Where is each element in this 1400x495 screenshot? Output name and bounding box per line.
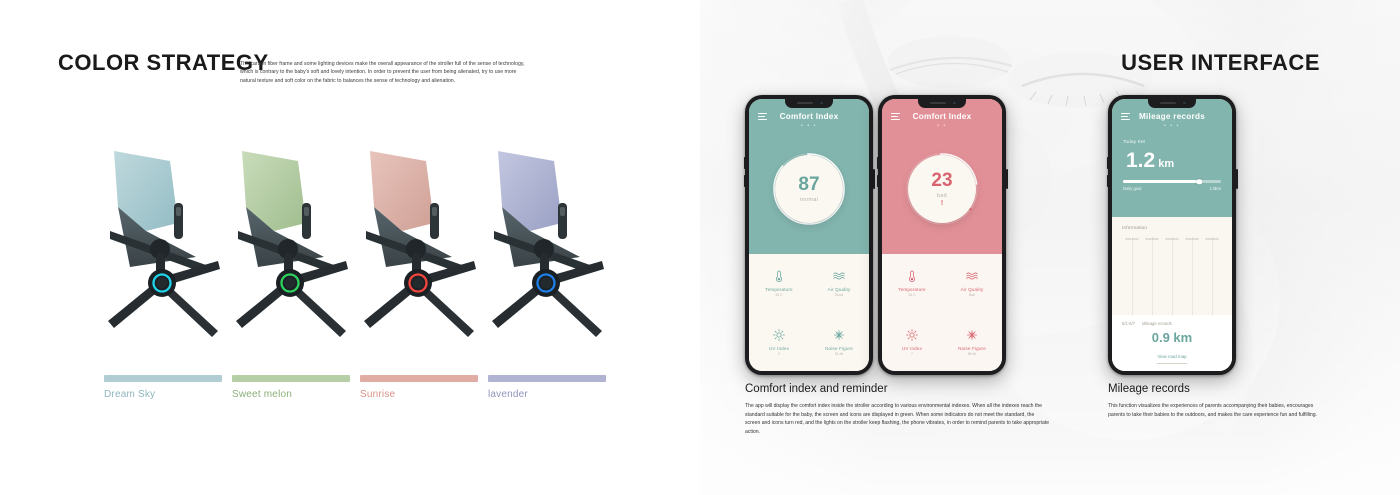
sensor-uv-index[interactable]: UV Index 7: [882, 313, 942, 372]
phone-volume-button[interactable]: [744, 175, 746, 187]
app-title: Comfort Index: [882, 112, 1002, 121]
stroller-illustration: [484, 135, 609, 360]
camera-icon: [820, 102, 823, 105]
menu-icon[interactable]: [891, 113, 900, 120]
phone-power-button[interactable]: [873, 169, 875, 189]
sensor-label: Air Quality: [828, 287, 851, 292]
product-card: Sunrise: [356, 135, 481, 360]
today-km-value: 1.2km: [1123, 150, 1221, 171]
sensor-label: Temperature: [898, 287, 925, 292]
gauge-status: normal: [800, 197, 818, 203]
phone-notch: [1148, 99, 1196, 108]
speaker-icon: [930, 102, 946, 104]
phone-volume-button[interactable]: [877, 175, 879, 187]
stroller-image: [356, 135, 481, 360]
swatch-gallery: Dream Sky: [0, 0, 700, 495]
chart-title: Information: [1122, 225, 1222, 230]
noise-icon: [965, 328, 979, 342]
stroller-illustration: [228, 135, 353, 360]
phone-mockup-comfort-bad: Comfort Index • • 23 bad !: [878, 95, 1006, 375]
app-title: Comfort Index: [749, 112, 869, 121]
sensor-air-quality[interactable]: Air Quality Bad: [942, 254, 1002, 313]
comfort-gauge-wrap: 87 normal: [749, 129, 869, 257]
thermometer-icon: [772, 269, 786, 283]
caption-comfort-index: Comfort index and reminder The app will …: [745, 383, 1050, 436]
sun-icon: [905, 328, 919, 342]
app-hero-mileage: Mileage records • • • Today KM 1.2km: [1112, 99, 1232, 217]
chart-container: Information 5/01-5/02 5/02-5/03 5/03-5/0…: [1112, 217, 1232, 315]
phone-power-button[interactable]: [1006, 169, 1008, 189]
sensor-value: 26 C: [775, 293, 782, 297]
phone-notch: [785, 99, 833, 108]
progress-knob[interactable]: [1197, 179, 1202, 184]
product-card: lavender: [484, 135, 609, 360]
daily-goal-value: 1.5km: [1210, 186, 1221, 191]
daily-goal-meta: Daily goal 1.5km: [1123, 186, 1221, 191]
color-swatch-label: Sweet melon: [232, 389, 292, 400]
speaker-icon: [797, 102, 813, 104]
gauge-value: 23: [931, 171, 952, 190]
app-title: Mileage records: [1112, 112, 1232, 121]
camera-icon: [1183, 102, 1186, 105]
stroller-illustration: [100, 135, 225, 360]
sensor-value: Bad: [969, 293, 975, 297]
page-title-user-interface: USER INTERFACE: [1121, 50, 1320, 76]
daily-goal-label: Daily goal: [1123, 186, 1141, 191]
comfort-gauge-wrap: 23 bad !: [882, 129, 1002, 257]
sensor-grid: Temperature 34 C Air Quality Bad: [882, 254, 1002, 371]
stroller-image: [484, 135, 609, 360]
sensor-label: UV Index: [769, 346, 789, 351]
mileage-range-label: 5/1-5/7: [1122, 321, 1135, 326]
view-road-map-link[interactable]: View road map: [1157, 354, 1186, 364]
app-hero-comfort-alert: Comfort Index • • 23 bad !: [882, 99, 1002, 254]
color-swatch: [232, 375, 350, 382]
speaker-icon: [1160, 102, 1176, 104]
mileage-summary: Today KM 1.2km Daily goal 1.5km: [1112, 129, 1232, 191]
caption-title: Mileage records: [1108, 383, 1323, 395]
phone-mockup-comfort-good: Comfort Index • • • 87 normal: [745, 95, 873, 375]
mileage-footer: 5/1-5/7 Mileage records 0.9 km View road…: [1112, 315, 1232, 371]
comfort-gauge[interactable]: 23 bad !: [908, 155, 976, 223]
progress-fill: [1123, 180, 1199, 183]
noise-icon: [832, 328, 846, 342]
today-km-label: Today KM: [1123, 139, 1221, 144]
mileage-range-value: 0.9 km: [1122, 330, 1222, 345]
sensor-temperature[interactable]: Temperature 34 C: [882, 254, 942, 313]
sensor-panel: Temperature 26 C Air Quality Good: [749, 254, 869, 371]
color-swatch: [488, 375, 606, 382]
sensor-value: 31 db: [835, 352, 844, 356]
sensor-value: 68 db: [968, 352, 977, 356]
daily-goal-progress[interactable]: [1123, 180, 1221, 183]
phone-screen: Mileage records • • • Today KM 1.2km: [1112, 99, 1232, 371]
sensor-temperature[interactable]: Temperature 26 C: [749, 254, 809, 313]
phone-volume-button[interactable]: [1107, 157, 1109, 169]
color-swatch: [360, 375, 478, 382]
color-strategy-panel: COLOR STRATEGY The carbon fiber frame an…: [0, 0, 700, 495]
sensor-uv-index[interactable]: UV Index 2: [749, 313, 809, 372]
sensor-value: 34 C: [908, 293, 915, 297]
color-swatch: [104, 375, 222, 382]
menu-icon[interactable]: [758, 113, 767, 120]
stroller-image: [100, 135, 225, 360]
caption-body: This function visualizes the experiences…: [1108, 402, 1323, 419]
sensor-label: Noise Figure: [958, 346, 986, 351]
stroller-illustration: [356, 135, 481, 360]
stroller-image: [228, 135, 353, 360]
phone-volume-button[interactable]: [877, 157, 879, 169]
gauge-status: bad: [937, 193, 947, 199]
sensor-value: 7: [911, 352, 913, 356]
sensor-label: Noise Figure: [825, 346, 853, 351]
menu-icon[interactable]: [1121, 113, 1130, 120]
product-card: Sweet melon: [228, 135, 353, 360]
camera-icon: [953, 102, 956, 105]
gauge-value: 87: [798, 175, 819, 194]
sensor-noise-figure[interactable]: Noise Figure 31 db: [809, 313, 869, 372]
phone-screen: Comfort Index • • 23 bad !: [882, 99, 1002, 371]
chart-bars: [1122, 249, 1222, 315]
color-swatch-label: lavender: [488, 389, 528, 400]
mileage-chart-panel: Information 5/01-5/02 5/02-5/03 5/03-5/0…: [1112, 217, 1232, 371]
mileage-range-title: Mileage records: [1142, 321, 1172, 326]
mileage-range-row: 5/1-5/7 Mileage records: [1122, 321, 1222, 326]
sensor-value: 2: [778, 352, 780, 356]
sensor-value: Good: [835, 293, 843, 297]
color-swatch-label: Dream Sky: [104, 389, 155, 400]
phone-mockup-mileage: Mileage records • • • Today KM 1.2km: [1108, 95, 1236, 375]
sensor-grid: Temperature 26 C Air Quality Good: [749, 254, 869, 371]
caption-body: The app will display the comfort index i…: [745, 402, 1050, 436]
comfort-gauge[interactable]: 87 normal: [775, 155, 843, 223]
caption-title: Comfort index and reminder: [745, 383, 1050, 395]
phone-screen: Comfort Index • • • 87 normal: [749, 99, 869, 371]
gauge-alert-icon: !: [941, 200, 943, 207]
air-wave-icon: [832, 269, 846, 283]
sun-icon: [772, 328, 786, 342]
phone-notch: [918, 99, 966, 108]
sensor-panel: Temperature 34 C Air Quality Bad: [882, 254, 1002, 371]
sensor-label: Temperature: [765, 287, 792, 292]
sensor-air-quality[interactable]: Air Quality Good: [809, 254, 869, 313]
portfolio-page: COLOR STRATEGY The carbon fiber frame an…: [0, 0, 1400, 495]
sensor-label: Air Quality: [961, 287, 984, 292]
user-interface-panel: USER INTERFACE Comfort Index • • •: [700, 0, 1400, 495]
color-swatch-label: Sunrise: [360, 389, 395, 400]
mileage-bar-chart: 5/01-5/02 5/02-5/03 5/03-5/04 5/04-5/05 …: [1122, 237, 1222, 315]
phone-power-button[interactable]: [1236, 169, 1238, 189]
product-card: Dream Sky: [100, 135, 225, 360]
sensor-label: UV Index: [902, 346, 922, 351]
air-wave-icon: [965, 269, 979, 283]
caption-mileage-records: Mileage records This function visualizes…: [1108, 383, 1323, 419]
phone-volume-button[interactable]: [744, 157, 746, 169]
app-hero-comfort: Comfort Index • • • 87 normal: [749, 99, 869, 254]
sensor-noise-figure[interactable]: Noise Figure 68 db: [942, 313, 1002, 372]
phone-volume-button[interactable]: [1107, 175, 1109, 187]
thermometer-icon: [905, 269, 919, 283]
